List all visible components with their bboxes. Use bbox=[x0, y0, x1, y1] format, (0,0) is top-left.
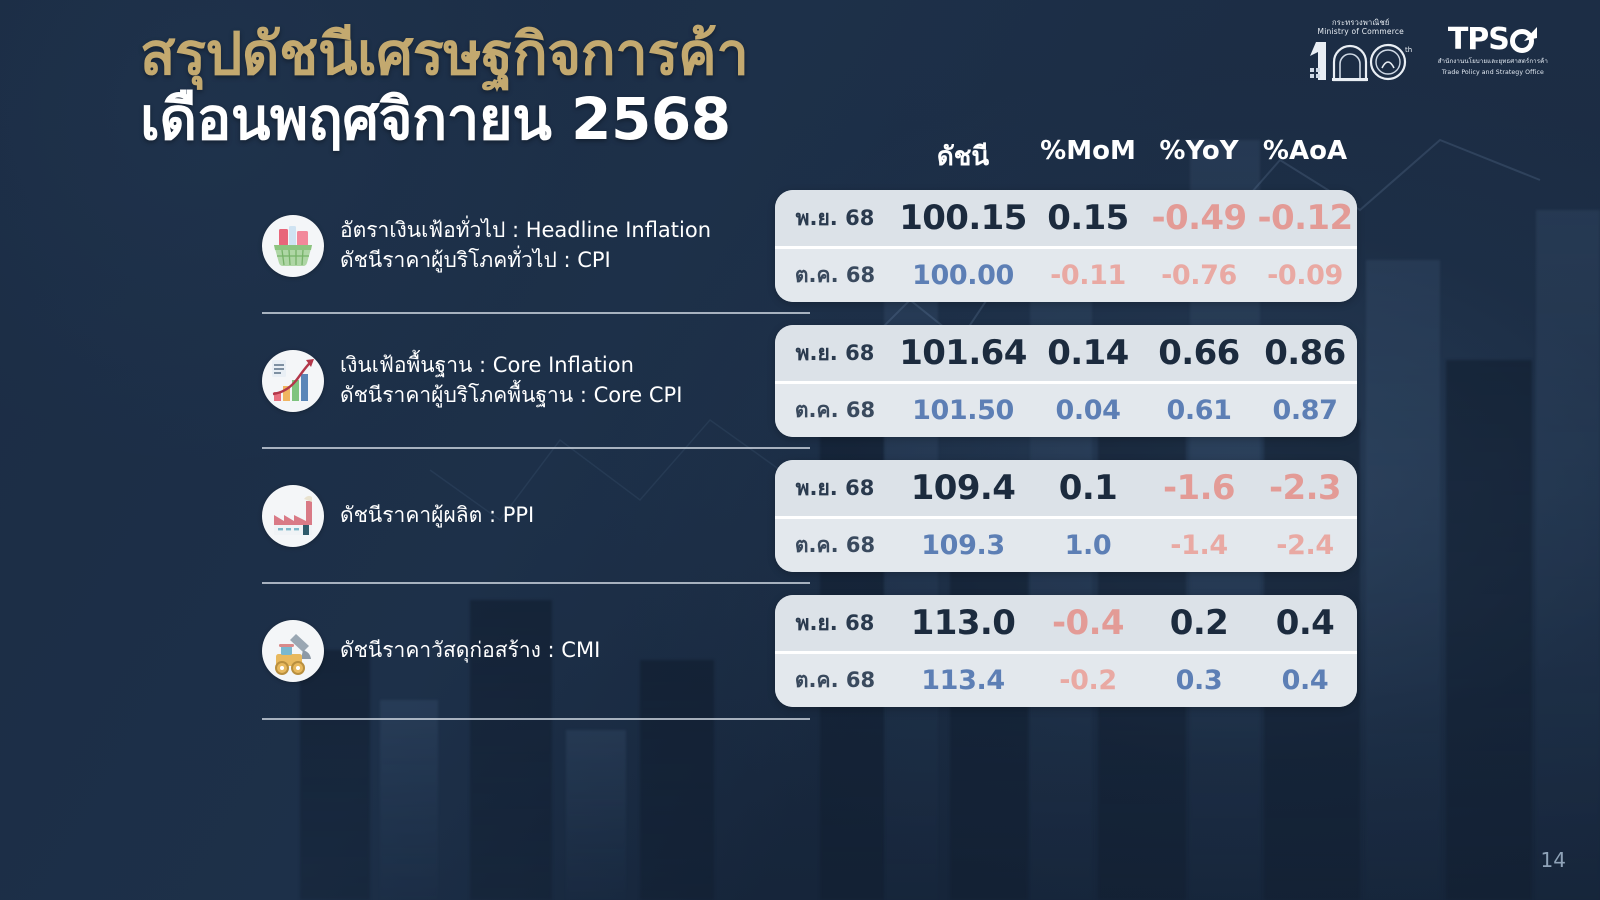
cell-month: พ.ย. 68 bbox=[775, 607, 895, 640]
cell-month: ต.ค. 68 bbox=[775, 529, 895, 562]
moc-105-mark: th bbox=[1306, 38, 1416, 84]
header-index: ดัชนี bbox=[895, 136, 1031, 177]
row-label-block: ดัชนีราคาวัสดุก่อสร้าง : CMI bbox=[262, 583, 782, 718]
title-line-2: เดือนพฤศจิกายน 2568 bbox=[140, 87, 748, 152]
cell-aoa: 0.87 bbox=[1253, 395, 1357, 426]
table-row: เงินเฟ้อพื้นฐาน : Core Inflation ดัชนีรา… bbox=[0, 313, 1600, 448]
header-yoy: %YoY bbox=[1145, 136, 1253, 177]
slide-title: สรุปดัชนีเศรษฐกิจการค้า เดือนพฤศจิกายน 2… bbox=[140, 22, 748, 152]
factory-icon bbox=[262, 485, 324, 547]
tpso-logo: TPS สำนักงานนโยบายและยุทธศาสตร์การค้า Tr… bbox=[1438, 25, 1548, 78]
cell-month: ต.ค. 68 bbox=[775, 394, 895, 427]
excavator-icon bbox=[262, 620, 324, 682]
cell-index: 101.64 bbox=[895, 333, 1031, 373]
ministry-of-commerce-logo: กระทรวงพาณิชย์ Ministry of Commerce th bbox=[1306, 18, 1416, 84]
cell-mom: 1.0 bbox=[1031, 530, 1145, 561]
moc-caption-th: กระทรวงพาณิชย์ bbox=[1332, 18, 1389, 27]
cell-yoy: -1.6 bbox=[1145, 468, 1253, 508]
table-row: อัตราเงินเฟ้อทั่วไป : Headline Inflation… bbox=[0, 178, 1600, 313]
cell-yoy: -0.76 bbox=[1145, 260, 1253, 291]
cell-month: ต.ค. 68 bbox=[775, 259, 895, 292]
data-row-previous: ต.ค. 68 101.50 0.04 0.61 0.87 bbox=[775, 381, 1357, 437]
cell-mom: 0.14 bbox=[1031, 333, 1145, 373]
cell-aoa: -0.12 bbox=[1253, 198, 1357, 238]
cell-index: 109.4 bbox=[895, 468, 1031, 508]
table-row: ดัชนีราคาวัสดุก่อสร้าง : CMI พ.ย. 68 113… bbox=[0, 583, 1600, 718]
row-labels: ดัชนีราคาวัสดุก่อสร้าง : CMI bbox=[340, 636, 600, 666]
title-line-1: สรุปดัชนีเศรษฐกิจการค้า bbox=[140, 22, 748, 87]
cell-yoy: 0.2 bbox=[1145, 603, 1253, 643]
indicator-rows: อัตราเงินเฟ้อทั่วไป : Headline Inflation… bbox=[0, 178, 1600, 718]
bg-building bbox=[380, 700, 438, 900]
tpso-caption-en: Trade Policy and Strategy Office bbox=[1442, 69, 1544, 77]
header-blank bbox=[775, 136, 895, 177]
header-mom: %MoM bbox=[1031, 136, 1145, 177]
row-labels: ดัชนีราคาผู้ผลิต : PPI bbox=[340, 501, 534, 531]
cell-aoa: 0.86 bbox=[1253, 333, 1357, 373]
row-label-block: ดัชนีราคาผู้ผลิต : PPI bbox=[262, 448, 782, 583]
cell-mom: 0.15 bbox=[1031, 198, 1145, 238]
row-label-main: เงินเฟ้อพื้นฐาน : Core Inflation bbox=[340, 351, 682, 381]
cell-index: 100.00 bbox=[895, 260, 1031, 291]
table-bottom-rule bbox=[262, 718, 810, 720]
cell-month: พ.ย. 68 bbox=[775, 472, 895, 505]
cell-month: พ.ย. 68 bbox=[775, 202, 895, 235]
table-row: ดัชนีราคาผู้ผลิต : PPI พ.ย. 68 109.4 0.1… bbox=[0, 448, 1600, 583]
slide-root: สรุปดัชนีเศรษฐกิจการค้า เดือนพฤศจิกายน 2… bbox=[0, 0, 1600, 900]
row-labels: อัตราเงินเฟ้อทั่วไป : Headline Inflation… bbox=[340, 216, 711, 276]
cell-index: 101.50 bbox=[895, 395, 1031, 426]
data-row-current: พ.ย. 68 101.64 0.14 0.66 0.86 bbox=[775, 325, 1357, 381]
logo-group: กระทรวงพาณิชย์ Ministry of Commerce th bbox=[1306, 18, 1548, 84]
cell-yoy: 0.66 bbox=[1145, 333, 1253, 373]
bar-chart-growth-icon bbox=[262, 350, 324, 412]
header-aoa: %AoA bbox=[1253, 136, 1357, 177]
data-row-previous: ต.ค. 68 109.3 1.0 -1.4 -2.4 bbox=[775, 516, 1357, 572]
row-labels: เงินเฟ้อพื้นฐาน : Core Inflation ดัชนีรา… bbox=[340, 351, 682, 411]
shopping-basket-icon bbox=[262, 215, 324, 277]
row-label-main: ดัชนีราคาวัสดุก่อสร้าง : CMI bbox=[340, 636, 600, 666]
cell-mom: -0.2 bbox=[1031, 665, 1145, 696]
tpso-arrow-o-icon bbox=[1508, 25, 1538, 55]
row-label-main: ดัชนีราคาผู้ผลิต : PPI bbox=[340, 501, 534, 531]
data-row-current: พ.ย. 68 109.4 0.1 -1.6 -2.3 bbox=[775, 460, 1357, 516]
cell-aoa: -2.3 bbox=[1253, 468, 1357, 508]
row-label-sub: ดัชนีราคาผู้บริโภคพื้นฐาน : Core CPI bbox=[340, 381, 682, 411]
row-label-main: อัตราเงินเฟ้อทั่วไป : Headline Inflation bbox=[340, 216, 711, 246]
cell-index: 113.0 bbox=[895, 603, 1031, 643]
cell-yoy: -0.49 bbox=[1145, 198, 1253, 238]
row-data-panel: พ.ย. 68 113.0 -0.4 0.2 0.4 ต.ค. 68 113.4… bbox=[775, 595, 1357, 707]
bg-building bbox=[566, 730, 626, 900]
row-label-block: เงินเฟ้อพื้นฐาน : Core Inflation ดัชนีรา… bbox=[262, 313, 782, 448]
row-data-panel: พ.ย. 68 100.15 0.15 -0.49 -0.12 ต.ค. 68 … bbox=[775, 190, 1357, 302]
data-row-previous: ต.ค. 68 113.4 -0.2 0.3 0.4 bbox=[775, 651, 1357, 707]
cell-yoy: 0.61 bbox=[1145, 395, 1253, 426]
cell-aoa: 0.4 bbox=[1253, 665, 1357, 696]
row-label-block: อัตราเงินเฟ้อทั่วไป : Headline Inflation… bbox=[262, 178, 782, 313]
data-row-current: พ.ย. 68 100.15 0.15 -0.49 -0.12 bbox=[775, 190, 1357, 246]
cell-aoa: -0.09 bbox=[1253, 260, 1357, 291]
cell-month: ต.ค. 68 bbox=[775, 664, 895, 697]
data-row-current: พ.ย. 68 113.0 -0.4 0.2 0.4 bbox=[775, 595, 1357, 651]
svg-text:th: th bbox=[1405, 46, 1412, 54]
cell-mom: 0.1 bbox=[1031, 468, 1145, 508]
row-label-sub: ดัชนีราคาผู้บริโภคทั่วไป : CPI bbox=[340, 246, 711, 276]
cell-mom: -0.4 bbox=[1031, 603, 1145, 643]
tpso-word-main: TPS bbox=[1448, 25, 1509, 55]
cell-yoy: 0.3 bbox=[1145, 665, 1253, 696]
cell-aoa: -2.4 bbox=[1253, 530, 1357, 561]
cell-mom: -0.11 bbox=[1031, 260, 1145, 291]
row-data-panel: พ.ย. 68 101.64 0.14 0.66 0.86 ต.ค. 68 10… bbox=[775, 325, 1357, 437]
moc-caption-en: Ministry of Commerce bbox=[1318, 27, 1404, 36]
cell-yoy: -1.4 bbox=[1145, 530, 1253, 561]
cell-index: 109.3 bbox=[895, 530, 1031, 561]
cell-index: 100.15 bbox=[895, 198, 1031, 238]
data-row-previous: ต.ค. 68 100.00 -0.11 -0.76 -0.09 bbox=[775, 246, 1357, 302]
page-number: 14 bbox=[1541, 848, 1566, 872]
cell-month: พ.ย. 68 bbox=[775, 337, 895, 370]
table-column-headers: ดัชนี %MoM %YoY %AoA bbox=[775, 136, 1357, 177]
row-data-panel: พ.ย. 68 109.4 0.1 -1.6 -2.3 ต.ค. 68 109.… bbox=[775, 460, 1357, 572]
cell-aoa: 0.4 bbox=[1253, 603, 1357, 643]
tpso-caption-th: สำนักงานนโยบายและยุทธศาสตร์การค้า bbox=[1438, 58, 1548, 66]
tpso-wordmark: TPS bbox=[1448, 25, 1538, 55]
cell-mom: 0.04 bbox=[1031, 395, 1145, 426]
cell-index: 113.4 bbox=[895, 665, 1031, 696]
moc-emblem-icon: th bbox=[1306, 38, 1416, 84]
